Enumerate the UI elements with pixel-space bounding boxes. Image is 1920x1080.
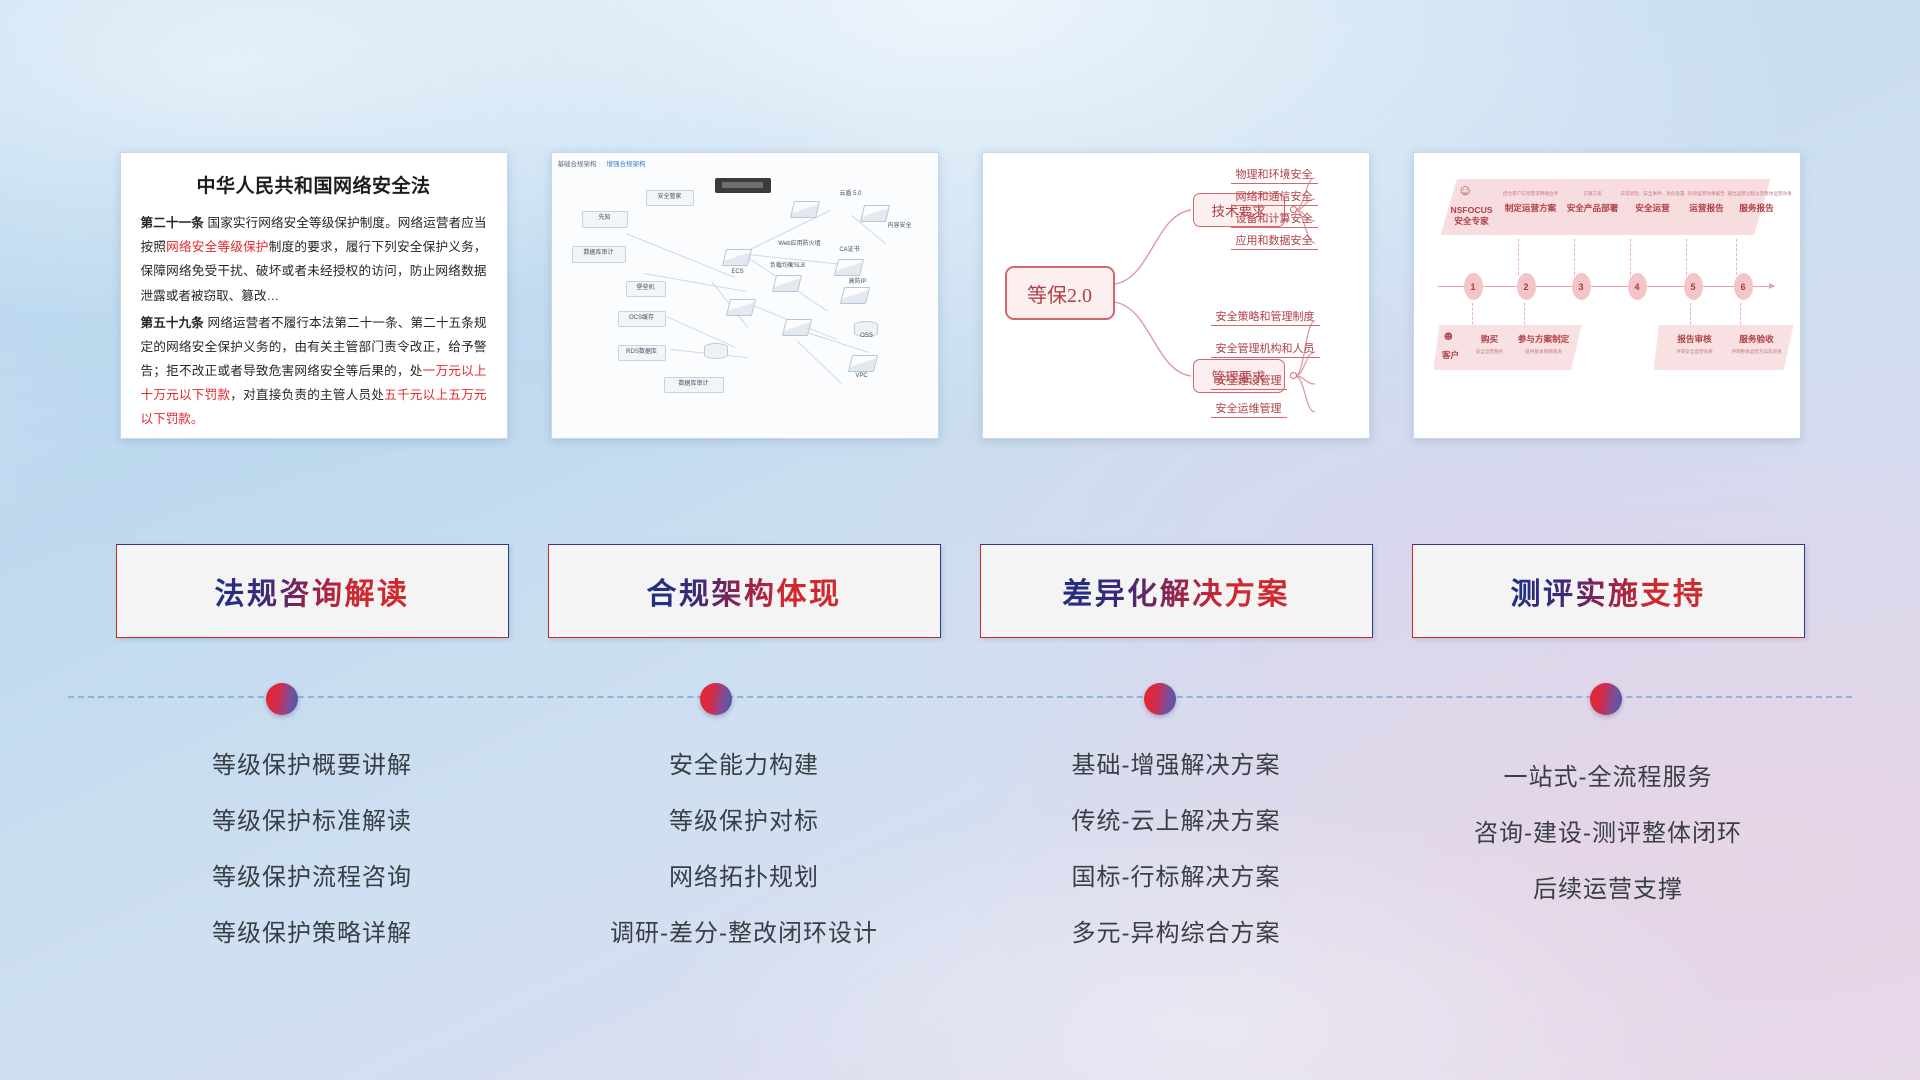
service-tick xyxy=(1574,239,1575,275)
section-label-differentiated-solution[interactable]: 差异化解决方案 xyxy=(980,544,1373,638)
service-step-marker: 5 xyxy=(1684,273,1703,300)
customer-role-label: 客户 xyxy=(1436,349,1466,361)
arch-tab-enhanced: 增强合规架构 xyxy=(607,158,646,168)
list-item: 国标-行标解决方案 xyxy=(1072,857,1281,892)
service-step-title: 安全运营 xyxy=(1620,202,1686,214)
service-step-title: 制定运营方案 xyxy=(1500,202,1562,214)
arch-node-label: OCS缓存 xyxy=(618,315,666,322)
section-label-text: 合规架构体现 xyxy=(647,569,842,613)
arch-node-cube xyxy=(725,299,755,316)
service-step-column: 参与方案制定 提供基本网络情况 xyxy=(1510,333,1578,355)
service-step-column: 购买 安全运营服务 xyxy=(1466,333,1514,355)
arch-node-cube xyxy=(859,205,889,222)
arch-node-cube xyxy=(847,355,877,372)
arch-node-label: Web应用防火墙 xyxy=(770,241,830,248)
mindmap-leaf: 应用和数据安全 xyxy=(1231,232,1318,250)
arch-node-label: 数据库审计 xyxy=(572,250,626,257)
service-step-marker: 3 xyxy=(1572,273,1591,300)
section-label-text: 法规咨询解读 xyxy=(215,569,410,613)
list-item: 调研-差分-整改闭环设计 xyxy=(610,913,878,948)
timeline-dot-1[interactable] xyxy=(266,683,298,715)
illustration-card-row: 中华人民共和国网络安全法 第二十一条 国家实行网络安全等级保护制度。网络运营者应… xyxy=(0,152,1920,439)
mindmap-leaf: 安全运维管理 xyxy=(1211,400,1287,418)
list-item: 等级保护策略详解 xyxy=(212,913,412,948)
arch-node-cube xyxy=(833,259,863,276)
arch-link xyxy=(797,341,842,385)
service-tick xyxy=(1736,239,1737,275)
detail-column-assessment-support: 一站式-全流程服务 咨询-建设-测评整体闭环 后续运营支撑 xyxy=(1412,735,1805,948)
detail-column-regulation-consulting: 等级保护概要讲解 等级保护标准解读 等级保护流程咨询 等级保护策略详解 xyxy=(116,735,509,948)
arch-node-label: 负载均衡SLB xyxy=(760,263,816,270)
list-item: 咨询-建设-测评整体闭环 xyxy=(1474,813,1742,848)
service-step-marker: 4 xyxy=(1628,273,1647,300)
brand-role: 安全专家 xyxy=(1444,215,1500,227)
service-step-column: 实施方案 安全产品部署 xyxy=(1562,191,1624,214)
service-step-column: 结合客户实际需求明确边界 制定运营方案 xyxy=(1500,191,1562,214)
service-step-caption: 输出运营过程以及整体运营效果 xyxy=(1728,191,1786,197)
service-step-title: 服务报告 xyxy=(1728,202,1786,214)
law-paragraph-59: 第五十九条 网络运营者不履行本法第二十一条、第二十五条规定的网络安全保护义务的，… xyxy=(141,311,487,432)
arch-node-cube xyxy=(789,201,819,218)
arch-tab-basic: 基础合规架构 xyxy=(558,158,597,168)
law-run-highlight: 网络安全等级保护 xyxy=(166,240,269,254)
service-step-column: 输出运营过程以及整体运营效果 服务报告 xyxy=(1728,191,1786,214)
service-step-title: 参与方案制定 xyxy=(1510,333,1578,345)
service-step-caption: 提供基本网络情况 xyxy=(1510,349,1578,355)
section-label-text: 测评实施支持 xyxy=(1511,569,1706,613)
service-step-marker: 2 xyxy=(1517,273,1536,300)
service-tick xyxy=(1630,239,1631,275)
arch-link xyxy=(663,315,735,347)
law-run: ，对直接负责的主管人员处 xyxy=(230,388,384,402)
brand-name: NSFOCUS xyxy=(1444,205,1500,215)
service-step-marker: 1 xyxy=(1464,273,1483,300)
list-item: 等级保护概要讲解 xyxy=(212,745,412,780)
list-item: 后续运营支撑 xyxy=(1533,869,1683,904)
card-service-timeline: ☺ NSFOCUS 安全专家 结合客户实际需求明确边界 制定运营方案 实施方案 … xyxy=(1413,152,1801,439)
list-item: 多元-异构综合方案 xyxy=(1072,913,1281,948)
law-title: 中华人民共和国网络安全法 xyxy=(141,171,487,198)
card-mindmap-dengbao: 等保2.0 技术要求 物理和环境安全 网络和通信安全 设备和计算安全 应用和数据… xyxy=(982,152,1370,439)
arch-node-label: ECS xyxy=(718,269,758,276)
list-item: 传统-云上解决方案 xyxy=(1072,801,1281,836)
timeline-dot-4[interactable] xyxy=(1590,683,1622,715)
service-step-title: 安全产品部署 xyxy=(1562,202,1624,214)
customer-role: 客户 xyxy=(1436,349,1466,361)
arch-node-label: RDS数据库 xyxy=(618,349,666,356)
arch-title-chip xyxy=(715,178,771,193)
list-item: 等级保护标准解读 xyxy=(212,801,412,836)
customer-icon: ☻ xyxy=(1442,329,1456,342)
arch-node-label: CA证书 xyxy=(830,247,870,254)
arch-node-label: VPC xyxy=(844,373,880,380)
service-step-caption: 评审整体运营方案及效果 xyxy=(1722,349,1792,355)
service-step-title: 报告审核 xyxy=(1664,333,1726,345)
law-article-label: 第五十九条 xyxy=(141,316,204,330)
detail-column-compliance-architecture: 安全能力构建 等级保护对标 网络拓扑规划 调研-差分-整改闭环设计 xyxy=(548,735,941,948)
arch-node-cube xyxy=(771,275,801,292)
card-cybersecurity-law: 中华人民共和国网络安全法 第二十一条 国家实行网络安全等级保护制度。网络运营者应… xyxy=(120,152,508,439)
service-step-title: 购买 xyxy=(1466,333,1514,345)
mindmap-collapse-dot xyxy=(1290,372,1297,379)
service-step-title: 服务验收 xyxy=(1722,333,1792,345)
arch-node-cube xyxy=(721,249,751,266)
list-item: 一站式-全流程服务 xyxy=(1504,757,1713,792)
arch-node-label: 堡垒机 xyxy=(626,285,666,292)
card-cloud-architecture: 基础合规架构 增强合规架构 先知 数据库审计 堡垒机 OCS缓存 RDS数据库 … xyxy=(551,152,939,439)
arch-node-label: OSS xyxy=(850,333,884,340)
detail-column-differentiated-solution: 基础-增强解决方案 传统-云上解决方案 国标-行标解决方案 多元-异构综合方案 xyxy=(980,735,1373,948)
expert-icon: ☺ xyxy=(1458,183,1473,198)
section-label-compliance-architecture[interactable]: 合规架构体现 xyxy=(548,544,941,638)
service-step-column: 日常巡检、安全事件、高危处置 安全运营 xyxy=(1620,191,1686,214)
service-step-caption: 结合客户实际需求明确边界 xyxy=(1500,191,1562,197)
mindmap-root-node: 等保2.0 xyxy=(1005,266,1115,320)
list-item: 安全能力构建 xyxy=(669,745,819,780)
mindmap-leaf: 安全策略和管理制度 xyxy=(1211,308,1320,326)
mindmap-leaf: 网络和通信安全 xyxy=(1231,188,1318,206)
mindmap-leaf: 设备和计算安全 xyxy=(1231,210,1318,228)
section-label-regulation-consulting[interactable]: 法规咨询解读 xyxy=(116,544,509,638)
arch-node-cylinder xyxy=(704,343,728,359)
list-item: 网络拓扑规划 xyxy=(669,857,819,892)
timeline-dot-3[interactable] xyxy=(1144,683,1176,715)
arch-node-label: 安全管家 xyxy=(646,194,694,201)
list-item: 基础-增强解决方案 xyxy=(1072,745,1281,780)
service-step-caption: 安全运营服务 xyxy=(1466,349,1514,355)
service-tick xyxy=(1518,239,1519,275)
law-article-label: 第二十一条 xyxy=(141,216,204,230)
service-step-column: 报告审核 评审安全运营效果 xyxy=(1664,333,1726,355)
service-step-caption: 日常巡检、安全事件、高危处置 xyxy=(1620,191,1686,197)
arch-tab-list: 基础合规架构 增强合规架构 xyxy=(558,158,646,168)
list-item: 等级保护流程咨询 xyxy=(212,857,412,892)
service-axis xyxy=(1438,286,1774,287)
section-label-text: 差异化解决方案 xyxy=(1062,569,1290,613)
arch-node-label: 先知 xyxy=(582,215,628,222)
mindmap-leaf: 物理和环境安全 xyxy=(1231,166,1318,184)
mindmap-leaf: 安全建设管理 xyxy=(1211,372,1287,390)
arch-node-cube xyxy=(839,287,869,304)
service-step-caption: 实施方案 xyxy=(1562,191,1624,197)
list-item: 等级保护对标 xyxy=(669,801,819,836)
process-timeline xyxy=(68,696,1852,698)
service-band-leading: NSFOCUS 安全专家 xyxy=(1444,205,1500,227)
arch-node-cube xyxy=(781,319,811,336)
mindmap-leaf: 安全管理机构和人员 xyxy=(1211,340,1320,358)
detail-column-row: 等级保护概要讲解 等级保护标准解读 等级保护流程咨询 等级保护策略详解 安全能力… xyxy=(0,735,1920,948)
service-step-column: 服务验收 评审整体运营方案及效果 xyxy=(1722,333,1792,355)
service-tick xyxy=(1686,239,1687,275)
service-step-caption: 评审安全运营效果 xyxy=(1664,349,1726,355)
arch-node-label: 云盾 5.0 xyxy=(828,191,874,198)
arch-node-label: 高防IP xyxy=(838,279,878,286)
arch-node-label: 内容安全 xyxy=(880,223,920,230)
arch-node-label: 数据库审计 xyxy=(664,381,724,388)
law-paragraph-21: 第二十一条 国家实行网络安全等级保护制度。网络运营者应当按照网络安全等级保护制度… xyxy=(141,211,487,308)
service-step-marker: 6 xyxy=(1734,273,1753,300)
timeline-dot-2[interactable] xyxy=(700,683,732,715)
section-label-row: 法规咨询解读 合规架构体现 差异化解决方案 测评实施支持 xyxy=(0,544,1920,638)
section-label-assessment-support[interactable]: 测评实施支持 xyxy=(1412,544,1805,638)
